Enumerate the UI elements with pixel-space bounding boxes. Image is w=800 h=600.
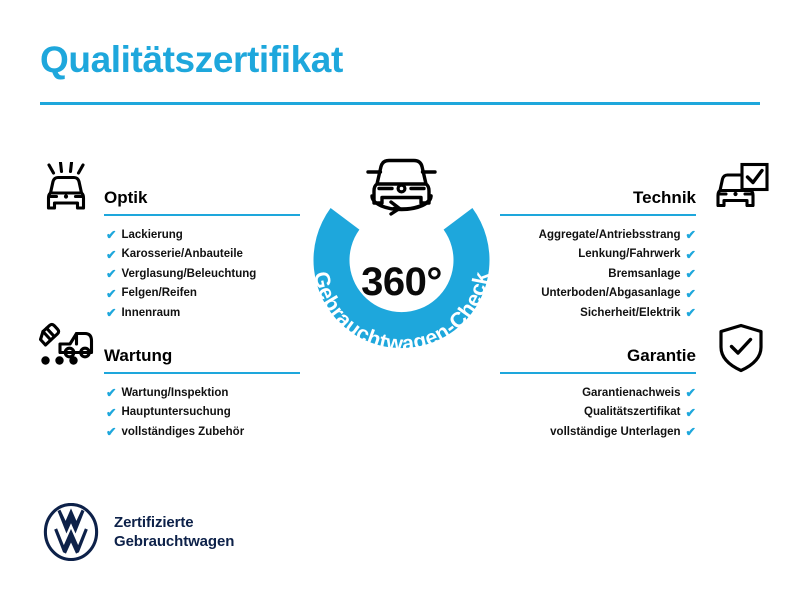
list-item-label: Lenkung/Fahrwerk bbox=[578, 245, 680, 264]
section-technik-header: Technik bbox=[500, 180, 696, 218]
section-technik-title: Technik bbox=[633, 188, 696, 208]
list-item-label: Felgen/Reifen bbox=[121, 284, 196, 303]
list-item: ✔Lackierung bbox=[106, 226, 300, 245]
footer-line-1: Zertifizierte bbox=[114, 513, 234, 532]
list-item: vollständige Unterlagen✔ bbox=[500, 423, 696, 442]
list-item: ✔Innenraum bbox=[106, 304, 300, 323]
shield-check-icon bbox=[716, 322, 766, 379]
car-checkbox-icon bbox=[712, 162, 770, 221]
list-item: ✔Hauptuntersuchung bbox=[106, 403, 300, 422]
section-wartung-title: Wartung bbox=[104, 346, 172, 366]
list-item: Bremsanlage✔ bbox=[500, 265, 696, 284]
list-item: Unterboden/Abgasanlage✔ bbox=[500, 284, 696, 303]
check-icon: ✔ bbox=[686, 307, 696, 320]
car-rotate-icon bbox=[339, 152, 464, 222]
list-item: ✔Wartung/Inspektion bbox=[106, 384, 300, 403]
list-item: Aggregate/Antriebsstrang✔ bbox=[500, 226, 696, 245]
footer-brand: Zertifizierte Gebrauchtwagen bbox=[42, 503, 234, 561]
list-item-label: Wartung/Inspektion bbox=[121, 384, 228, 403]
list-item: Qualitätszertifikat✔ bbox=[500, 403, 696, 422]
section-wartung-list: ✔Wartung/Inspektion ✔Hauptuntersuchung ✔… bbox=[106, 384, 300, 442]
footer-brand-text: Zertifizierte Gebrauchtwagen bbox=[114, 513, 234, 551]
list-item-label: vollständige Unterlagen bbox=[550, 423, 680, 442]
car-shine-icon bbox=[38, 162, 94, 221]
list-item-label: Innenraum bbox=[121, 304, 180, 323]
car-service-pen-icon bbox=[34, 320, 98, 379]
360-check-badge: Gebrauchtwagen-Check 360 bbox=[289, 150, 514, 375]
page-title: Qualitätszertifikat bbox=[40, 38, 343, 82]
list-item-label: Verglasung/Beleuchtung bbox=[121, 265, 256, 284]
section-garantie-title: Garantie bbox=[627, 346, 696, 366]
section-optik: Optik ✔Lackierung ✔Karosserie/Anbauteile… bbox=[104, 180, 300, 323]
section-wartung-divider bbox=[104, 372, 300, 374]
footer-line-2: Gebrauchtwagen bbox=[114, 532, 234, 551]
list-item: ✔Felgen/Reifen bbox=[106, 284, 300, 303]
volkswagen-logo bbox=[42, 503, 100, 561]
check-icon: ✔ bbox=[106, 426, 116, 439]
section-wartung: Wartung ✔Wartung/Inspektion ✔Hauptunters… bbox=[104, 338, 300, 442]
check-icon: ✔ bbox=[106, 229, 116, 242]
section-garantie-divider bbox=[500, 372, 696, 374]
section-optik-list: ✔Lackierung ✔Karosserie/Anbauteile ✔Verg… bbox=[106, 226, 300, 323]
section-optik-title: Optik bbox=[104, 188, 147, 208]
list-item: ✔Karosserie/Anbauteile bbox=[106, 245, 300, 264]
section-technik-list: Aggregate/Antriebsstrang✔ Lenkung/Fahrwe… bbox=[500, 226, 696, 323]
check-icon: ✔ bbox=[106, 249, 116, 262]
list-item: ✔vollständiges Zubehör bbox=[106, 423, 300, 442]
check-icon: ✔ bbox=[686, 387, 696, 400]
check-icon: ✔ bbox=[686, 426, 696, 439]
section-garantie-list: Garantienachweis✔ Qualitätszertifikat✔ v… bbox=[500, 384, 696, 442]
section-technik: Technik Aggregate/Antriebsstrang✔ Lenkun… bbox=[500, 180, 696, 323]
check-icon: ✔ bbox=[686, 407, 696, 420]
section-wartung-header: Wartung bbox=[104, 338, 300, 376]
list-item-label: Lackierung bbox=[121, 226, 182, 245]
list-item-label: Aggregate/Antriebsstrang bbox=[539, 226, 681, 245]
list-item-label: Sicherheit/Elektrik bbox=[580, 304, 680, 323]
check-icon: ✔ bbox=[106, 268, 116, 281]
list-item: Sicherheit/Elektrik✔ bbox=[500, 304, 696, 323]
check-icon: ✔ bbox=[106, 307, 116, 320]
check-icon: ✔ bbox=[686, 288, 696, 301]
section-garantie-header: Garantie bbox=[500, 338, 696, 376]
check-icon: ✔ bbox=[686, 229, 696, 242]
list-item-label: Karosserie/Anbauteile bbox=[121, 245, 242, 264]
list-item-label: Hauptuntersuchung bbox=[121, 403, 230, 422]
title-divider bbox=[40, 102, 760, 105]
list-item-label: Bremsanlage bbox=[608, 265, 680, 284]
check-icon: ✔ bbox=[106, 407, 116, 420]
section-technik-divider bbox=[500, 214, 696, 216]
section-garantie: Garantie Garantienachweis✔ Qualitätszert… bbox=[500, 338, 696, 442]
check-icon: ✔ bbox=[686, 249, 696, 262]
list-item: Lenkung/Fahrwerk✔ bbox=[500, 245, 696, 264]
list-item-label: vollständiges Zubehör bbox=[121, 423, 244, 442]
certificate-page: Qualitätszertifikat bbox=[0, 0, 800, 600]
list-item: Garantienachweis✔ bbox=[500, 384, 696, 403]
list-item-label: Unterboden/Abgasanlage bbox=[541, 284, 680, 303]
section-optik-header: Optik bbox=[104, 180, 300, 218]
section-optik-divider bbox=[104, 214, 300, 216]
check-icon: ✔ bbox=[686, 268, 696, 281]
list-item: ✔Verglasung/Beleuchtung bbox=[106, 265, 300, 284]
list-item-label: Garantienachweis bbox=[582, 384, 680, 403]
check-icon: ✔ bbox=[106, 387, 116, 400]
check-icon: ✔ bbox=[106, 288, 116, 301]
list-item-label: Qualitätszertifikat bbox=[584, 403, 681, 422]
